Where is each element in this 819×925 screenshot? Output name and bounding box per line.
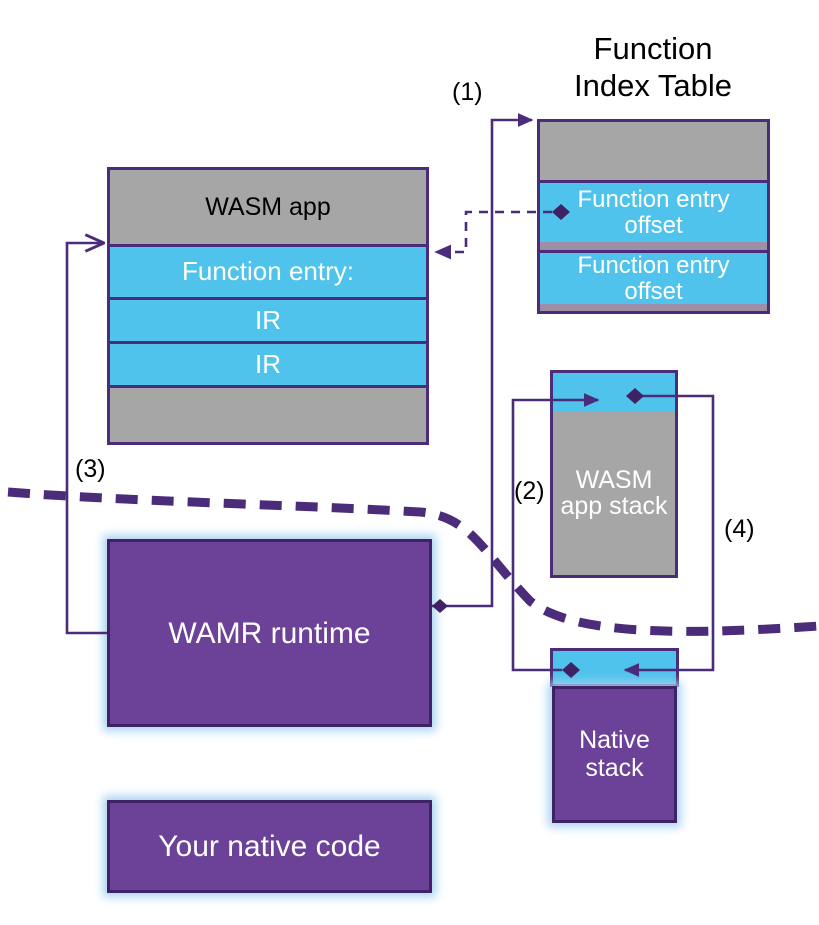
diagram-canvas: Function Index Table WASM app Function e… — [0, 0, 819, 925]
wasm-app-footer-row — [110, 385, 426, 442]
wasm-app-ir-row-2: IR — [110, 341, 426, 385]
wamr-runtime-box: WAMR runtime — [107, 539, 432, 727]
fit-row-function-entry-offset-2: Function entry offset — [540, 250, 767, 304]
native-stack-top-band — [553, 651, 676, 684]
fit-row-separator-1 — [540, 242, 767, 250]
fit-row-separator-2 — [540, 304, 767, 311]
wasm-app-stack-box: WASM app stack — [550, 370, 678, 578]
function-index-table-title: Function Index Table — [543, 30, 763, 104]
wasm-app-box: WASM app Function entry: IR IR — [107, 167, 429, 445]
wasm-app-header-row: WASM app — [110, 170, 426, 244]
fit-row-empty-top — [540, 122, 767, 180]
connector-1-wamr-to-function-index-table — [432, 120, 532, 613]
wasm-app-ir-row-1: IR — [110, 297, 426, 341]
wasm-app-stack-label: WASM app stack — [560, 467, 667, 520]
step-label-2: (2) — [514, 477, 545, 506]
step-label-3: (3) — [75, 455, 106, 484]
fit-row-function-entry-offset-1: Function entry offset — [540, 180, 767, 242]
wasm-app-function-entry-row: Function entry: — [110, 244, 426, 297]
native-stack-box: Native stack — [552, 686, 677, 823]
step-label-4: (4) — [724, 515, 755, 544]
wasm-app-stack-body: WASM app stack — [553, 411, 675, 575]
connector-3-wamr-to-wasm-app — [67, 243, 107, 633]
your-native-code-label: Your native code — [158, 830, 380, 863]
native-stack-label: Native stack — [579, 727, 650, 782]
native-stack-top-band-box — [550, 648, 679, 687]
function-index-table-box: Function entry offset Function entry off… — [537, 119, 770, 314]
wamr-runtime-label: WAMR runtime — [168, 617, 370, 650]
wasm-app-stack-top-band — [553, 373, 675, 411]
step-label-1: (1) — [452, 78, 483, 107]
your-native-code-box: Your native code — [107, 800, 432, 893]
